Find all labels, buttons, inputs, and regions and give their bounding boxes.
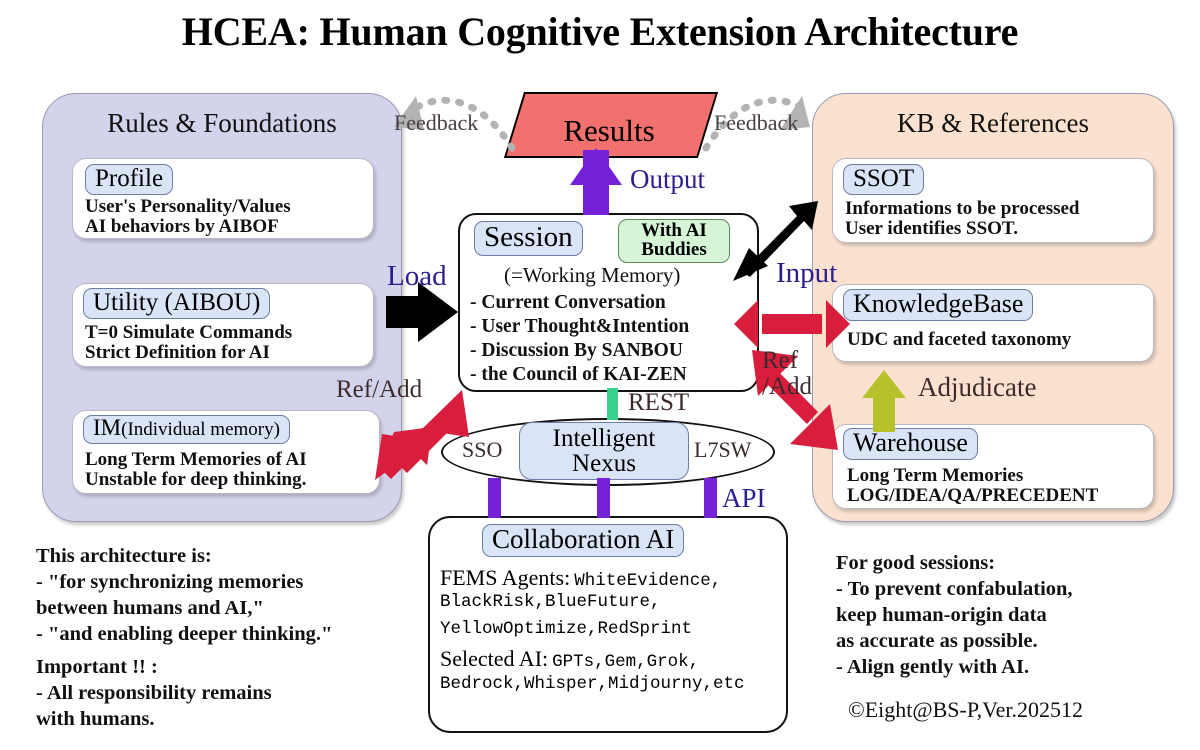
note-right-line-4: - Align gently with AI. bbox=[836, 654, 1029, 680]
session-item-1: - User Thought&Intention bbox=[470, 315, 689, 338]
ref-add-head-upper-left bbox=[421, 390, 469, 437]
note-left-line-5: Important !! : bbox=[36, 654, 158, 680]
note-right-line-0: For good sessions: bbox=[836, 550, 995, 576]
selected-ai-label: Selected AI: bbox=[440, 646, 548, 671]
warehouse-line-2: LOG/IDEA/QA/PRECEDENT bbox=[847, 485, 1098, 507]
nexus-l7sw-label: L7SW bbox=[694, 437, 751, 463]
chip-im-abbrev: IM bbox=[93, 415, 121, 440]
chip-warehouse: Warehouse bbox=[843, 428, 978, 460]
note-left-line-6: - All responsibility remains bbox=[36, 680, 272, 706]
chip-ssot: SSOT bbox=[843, 164, 924, 195]
ssot-line-1: Informations to be processed bbox=[845, 198, 1080, 220]
profile-line-2: AI behaviors by AIBOF bbox=[85, 216, 279, 238]
chip-utility-aibou: Utility (AIBOU) bbox=[83, 288, 270, 319]
card-warehouse: Warehouse Long Term Memories LOG/IDEA/QA… bbox=[832, 424, 1154, 509]
chip-profile: Profile bbox=[85, 164, 173, 195]
im-line-2: Unstable for deep thinking. bbox=[85, 469, 306, 491]
api-bar-right bbox=[704, 478, 717, 518]
card-individual-memory: IM(Individual memory) Long Term Memories… bbox=[72, 410, 380, 494]
api-bar-left bbox=[488, 478, 501, 518]
nexus-sso-label: SSO bbox=[462, 437, 502, 463]
card-utility-aibou: Utility (AIBOU) T=0 Simulate Commands St… bbox=[72, 283, 374, 367]
session-box: Session With AI Buddies (=Working Memory… bbox=[458, 213, 759, 392]
diagram-canvas: HCEA: Human Cognitive Extension Architec… bbox=[0, 0, 1200, 750]
label-rest: REST bbox=[628, 389, 689, 417]
utility-line-2: Strict Definition for AI bbox=[85, 342, 270, 364]
fems-agents-line-2: BlackRisk,BlueFuture, bbox=[440, 592, 661, 612]
note-right-line-3: as accurate as possible. bbox=[836, 628, 1038, 654]
output-bar-stub bbox=[583, 150, 609, 170]
page-title: HCEA: Human Cognitive Extension Architec… bbox=[0, 8, 1200, 55]
api-bar-center bbox=[597, 478, 610, 518]
chip-knowledgebase: KnowledgeBase bbox=[843, 289, 1033, 321]
chip-session: Session bbox=[474, 221, 583, 256]
utility-line-1: T=0 Simulate Commands bbox=[85, 322, 292, 344]
label-ref-add-right-l1: Ref bbox=[762, 348, 812, 374]
profile-line-1: User's Personality/Values bbox=[85, 196, 291, 218]
panel-title-kb: KB & References bbox=[813, 108, 1173, 139]
label-adjudicate: Adjudicate bbox=[918, 372, 1036, 403]
nexus-core: Intelligent Nexus bbox=[519, 422, 689, 480]
selected-ai-first: GPTs,Gem,Grok, bbox=[552, 652, 699, 672]
session-item-2: - Discussion By SANBOU bbox=[470, 339, 683, 362]
badge-with-ai-buddies: With AI Buddies bbox=[618, 219, 730, 263]
badge-line-1: With AI bbox=[627, 221, 721, 240]
note-left-line-2: between humans and AI," bbox=[36, 595, 264, 621]
note-left-line-7: with humans. bbox=[36, 706, 155, 732]
label-input: Input bbox=[776, 257, 837, 290]
results-label: Results bbox=[514, 100, 704, 162]
session-item-0: - Current Conversation bbox=[470, 291, 666, 314]
selected-ai-line-2: Bedrock,Whisper,Midjourny,etc bbox=[440, 674, 745, 694]
label-api: API bbox=[722, 483, 766, 514]
note-left-line-0: This architecture is: bbox=[36, 543, 212, 569]
label-ref-add-left-part1: Ref bbox=[336, 376, 372, 403]
chip-individual-memory: IM(Individual memory) bbox=[83, 415, 290, 444]
label-ref-add-right-l2: /Add bbox=[762, 374, 812, 400]
chip-im-expansion: (Individual memory) bbox=[121, 419, 280, 440]
chip-collaboration-ai: Collaboration AI bbox=[482, 524, 684, 557]
card-profile: Profile User's Personality/Values AI beh… bbox=[72, 158, 374, 239]
ssot-line-2: User identifies SSOT. bbox=[845, 218, 1018, 240]
label-load: Load bbox=[387, 260, 447, 293]
warehouse-line-1: Long Term Memories bbox=[847, 465, 1023, 487]
note-left-line-3: - "and enabling deeper thinking." bbox=[36, 621, 332, 647]
fems-agents-label: FEMS Agents: bbox=[440, 565, 570, 590]
note-left-line-1: - "for synchronizing memories bbox=[36, 569, 303, 595]
label-feedback-right: Feedback bbox=[714, 110, 798, 136]
session-item-3: - the Council of KAI-ZEN bbox=[470, 363, 687, 386]
label-ref-add-left-part2: /Add bbox=[372, 376, 422, 403]
note-right-line-1: - To prevent confabulation, bbox=[836, 576, 1073, 602]
fems-agents-line-3: YellowOptimize,RedSprint bbox=[440, 619, 692, 639]
card-ssot: SSOT Informations to be processed User i… bbox=[832, 158, 1154, 243]
label-output: Output bbox=[630, 164, 705, 195]
fems-agents-first: WhiteEvidence, bbox=[574, 571, 721, 591]
copyright-label: ©Eight@BS-P,Ver.202512 bbox=[848, 697, 1083, 723]
label-feedback-left: Feedback bbox=[394, 110, 478, 136]
rest-connector-bar bbox=[607, 388, 618, 420]
note-right-line-2: keep human-origin data bbox=[836, 602, 1047, 628]
nexus-core-line-1: Intelligent bbox=[553, 426, 656, 451]
label-ref-add-right: Ref /Add bbox=[762, 348, 812, 399]
session-subtitle: (=Working Memory) bbox=[504, 263, 680, 288]
label-ref-add-left: Ref/Add bbox=[336, 376, 422, 404]
panel-title-rules: Rules & Foundations bbox=[43, 108, 401, 139]
nexus-core-line-2: Nexus bbox=[572, 451, 636, 476]
kb-line-1: UDC and faceted taxonomy bbox=[847, 329, 1071, 351]
collaboration-ai-box: Collaboration AI FEMS Agents: WhiteEvide… bbox=[428, 516, 788, 733]
card-knowledgebase: KnowledgeBase UDC and faceted taxonomy bbox=[832, 284, 1154, 362]
badge-line-2: Buddies bbox=[627, 240, 721, 259]
im-line-1: Long Term Memories of AI bbox=[85, 449, 307, 471]
